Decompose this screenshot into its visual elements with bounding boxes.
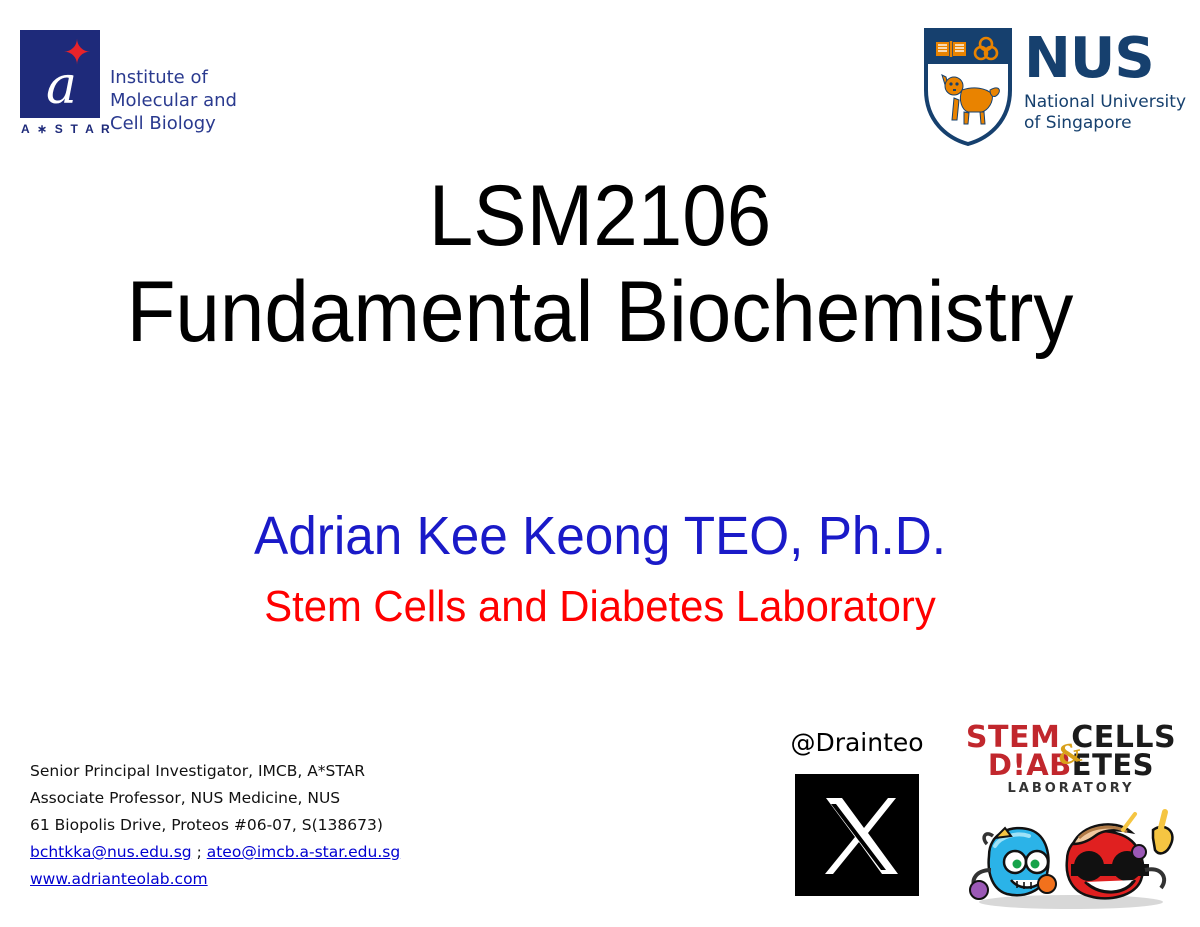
astar-logo-mark: a ✦ A ∗ S T A R	[20, 30, 100, 125]
slide-title: LSM2106 Fundamental Biochemistry	[42, 168, 1158, 360]
email-separator: ;	[192, 843, 207, 861]
contact-line-title: Senior Principal Investigator, IMCB, A*S…	[30, 758, 470, 785]
nus-logo: NUS National University of Singapore	[924, 28, 1184, 153]
title-line-1: LSM2106	[42, 168, 1158, 264]
email-link-nus[interactable]: bchtkka@nus.edu.sg	[30, 843, 192, 861]
blue-stem-cell-character	[970, 828, 1056, 899]
x-twitter-icon[interactable]	[795, 774, 919, 896]
astar-star-icon: ✦	[62, 38, 92, 68]
imcb-name-line-1: Institute of	[110, 66, 270, 89]
title-line-2: Fundamental Biochemistry	[42, 264, 1158, 360]
astar-imcb-logo: a ✦ A ∗ S T A R Institute of Molecular a…	[20, 30, 270, 155]
contact-line-website: www.adrianteolab.com	[30, 866, 470, 893]
lab-logo-line-3: LABORATORY	[955, 781, 1187, 797]
nus-full-name-line-2: of Singapore	[1024, 113, 1184, 134]
social-handle-block: @Drainteo	[782, 728, 932, 896]
nus-full-name: National University of Singapore	[1024, 92, 1184, 134]
imcb-name-line-2: Molecular and	[110, 89, 270, 112]
title-slide: a ✦ A ∗ S T A R Institute of Molecular a…	[0, 0, 1200, 927]
lab-logo-title: STEM CELLS D!ABETES & LABORATORY	[955, 722, 1187, 797]
presenter-name: Adrian Kee Keong TEO, Ph.D.	[30, 505, 1170, 567]
x-handle-text: @Drainteo	[782, 728, 932, 758]
nus-shield-icon	[924, 28, 1012, 146]
imcb-institute-name: Institute of Molecular and Cell Biology	[110, 66, 270, 135]
astar-wordmark: A ∗ S T A R	[21, 122, 101, 136]
nus-abbreviation: NUS	[1024, 30, 1184, 88]
website-link[interactable]: www.adrianteolab.com	[30, 870, 208, 888]
contact-line-emails: bchtkka@nus.edu.sg ; ateo@imcb.a-star.ed…	[30, 839, 470, 866]
contact-details: Senior Principal Investigator, IMCB, A*S…	[30, 758, 470, 893]
lab-mascots-illustration	[955, 804, 1187, 910]
contact-line-address: 61 Biopolis Drive, Proteos #06-07, S(138…	[30, 812, 470, 839]
x-glyph-icon	[795, 774, 919, 896]
email-link-imcb[interactable]: ateo@imcb.a-star.edu.sg	[207, 843, 400, 861]
contact-line-appointment: Associate Professor, NUS Medicine, NUS	[30, 785, 470, 812]
lab-logo-etes: ETES	[1072, 748, 1154, 782]
presenter-laboratory: Stem Cells and Diabetes Laboratory	[30, 580, 1170, 634]
imcb-name-line-3: Cell Biology	[110, 112, 270, 135]
nus-full-name-line-1: National University	[1024, 92, 1184, 113]
stem-cells-diabetes-lab-logo: STEM CELLS D!ABETES & LABORATORY	[955, 722, 1187, 910]
nus-wordmark: NUS National University of Singapore	[1024, 30, 1184, 134]
red-diabetes-character	[1067, 812, 1173, 898]
